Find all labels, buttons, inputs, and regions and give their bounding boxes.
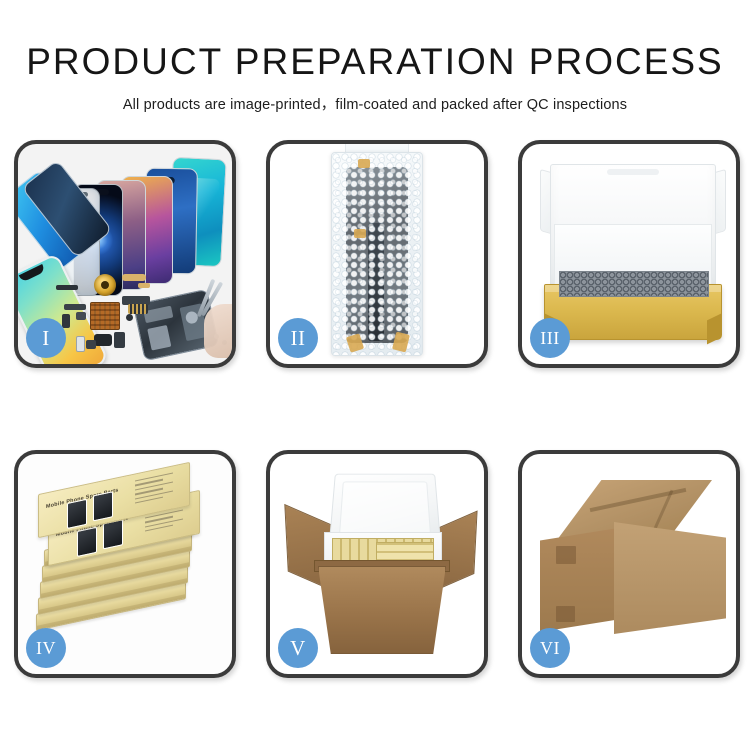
step-panel-6[interactable]: VI [518,450,740,678]
ribbon-cable-vertical-icon [62,314,70,328]
carton-flap-tab-icon [556,606,575,622]
step-badge-6: VI [530,628,570,668]
step-panel-2[interactable]: II [266,140,488,368]
product-preparation-infographic: PRODUCT PREPARATION PROCESS All products… [0,0,750,750]
step-panel-3[interactable]: III [518,140,740,368]
spec-text-lines-icon [135,471,179,510]
ribbon-cable-icon [64,304,86,310]
flex-cable-small-icon [138,283,150,288]
open-shipping-carton [292,470,470,664]
bubble-wrap-bag [331,152,423,356]
tape-icon [358,159,370,168]
connector-strip-icon [128,304,148,314]
carton-left-face-icon [540,528,618,632]
open-mailer-box [540,164,726,352]
step-badge-4: IV [26,628,66,668]
step-badge-2: II [278,318,318,358]
sealed-shipping-carton [540,480,726,648]
carton-body-icon [318,566,446,654]
carton-flap-tab-icon [556,546,576,564]
step-panel-5[interactable]: V [266,450,488,678]
sim-tray-icon [86,340,96,349]
step-panel-1[interactable]: I [14,140,236,368]
step-badge-5: V [278,628,318,668]
header: PRODUCT PREPARATION PROCESS All products… [0,0,750,114]
process-steps-grid: I II [0,134,750,694]
phone-thumbnail-icon [103,519,123,549]
flex-cable-gold-icon [122,274,146,281]
phone-thumbnail-icon [93,491,113,521]
phone-thumbnail-icon [77,527,97,557]
microphone-icon [126,314,133,321]
side-button-icon [76,336,85,352]
tape-icon [354,229,366,238]
carton-right-face-icon [614,522,726,634]
kraft-tray-icon [544,284,722,340]
bubble-texture-overlay-icon [332,153,422,355]
bag-body-icon [331,152,423,356]
speaker-icon [94,334,112,346]
bubble-wrapped-contents-icon [559,271,709,297]
page-title: PRODUCT PREPARATION PROCESS [0,43,750,80]
wireless-coil-icon [94,274,116,296]
page-subtitle: All products are image-printed，film-coat… [0,93,750,114]
antenna-part-icon [56,285,78,290]
small-module-icon [76,312,86,320]
chip-grid-icon [90,302,120,330]
tray-side-right-icon [707,314,721,345]
step-panel-4[interactable]: Mobile Phone Spare Parts Mobile Phone Sp… [14,450,236,678]
phone-thumbnail-icon [67,499,87,529]
step-badge-1: I [26,318,66,358]
step-badge-3: III [530,318,570,358]
camera-module-icon [114,332,125,348]
technician-hand-icon [204,304,236,358]
